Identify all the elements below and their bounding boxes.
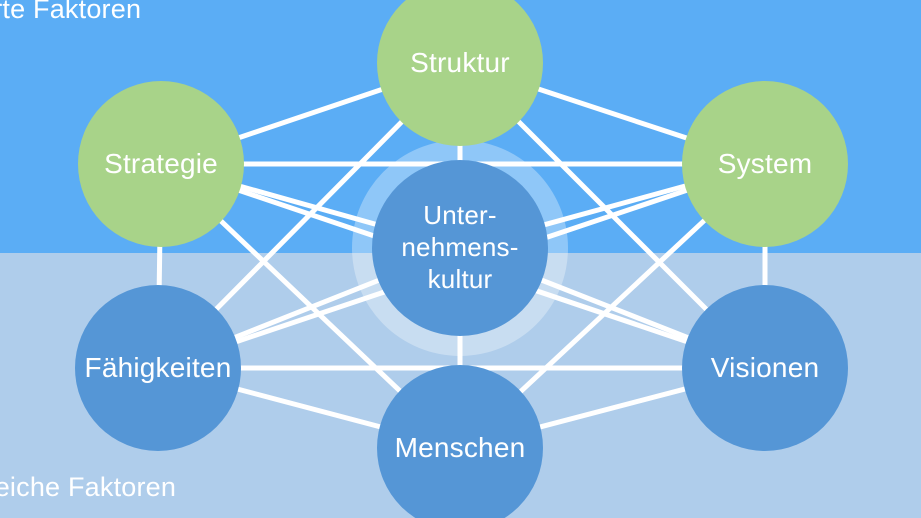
node-menschen-label: Menschen <box>395 432 526 464</box>
node-visionen-label: Visionen <box>711 352 820 384</box>
connector-strategie-struktur <box>236 88 385 138</box>
node-visionen[interactable]: Visionen <box>682 285 848 451</box>
node-menschen[interactable]: Menschen <box>377 365 543 518</box>
node-system-label: System <box>718 148 813 180</box>
node-system[interactable]: System <box>682 81 848 247</box>
connector-strategie-faehigkeiten <box>159 243 160 289</box>
node-faehigkeiten[interactable]: Fähigkeiten <box>75 285 241 451</box>
zone-label-soft-factors: Veiche Faktoren <box>0 474 176 501</box>
diagram-canvas: Struktur Strategie System Fähigkeiten Me… <box>0 0 921 518</box>
node-unternehmenskultur[interactable]: Unter- nehmens- kultur <box>372 160 548 336</box>
connector-faehigkeiten-menschen <box>234 388 383 428</box>
connector-menschen-visionen <box>536 388 688 428</box>
node-strategie[interactable]: Strategie <box>78 81 244 247</box>
zone-label-hard-factors: arte Faktoren <box>0 0 141 23</box>
node-strategie-label: Strategie <box>104 148 218 180</box>
node-unternehmenskultur-label: Unter- nehmens- kultur <box>401 200 518 295</box>
node-faehigkeiten-label: Fähigkeiten <box>85 352 232 384</box>
connector-visionen-unternehmenskultur <box>538 279 691 339</box>
connector-struktur-system <box>535 88 690 139</box>
node-struktur-label: Struktur <box>410 47 510 79</box>
